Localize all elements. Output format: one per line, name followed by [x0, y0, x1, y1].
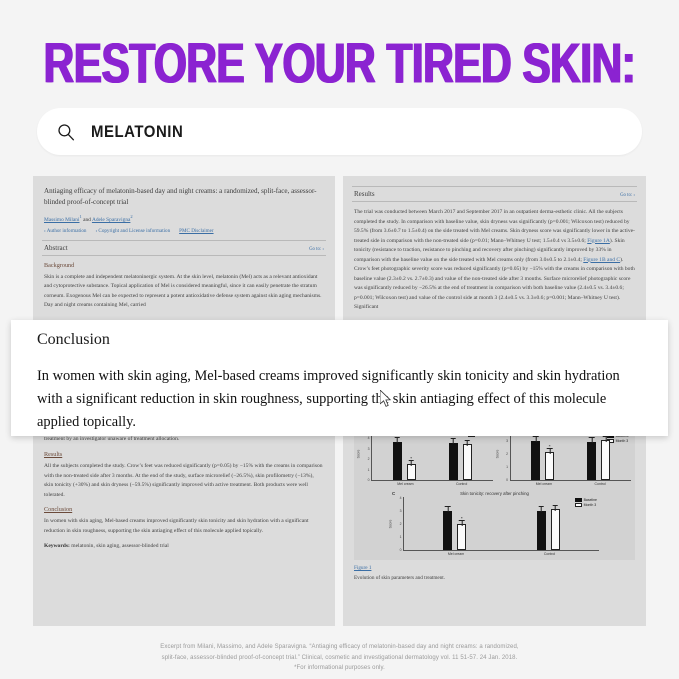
citation-line-3: *For informational purposes only.	[99, 663, 579, 673]
error-bar	[555, 505, 556, 511]
goto-link-abstract[interactable]: Go to: ›	[309, 247, 324, 252]
keywords-label: Keywords:	[44, 543, 70, 549]
error-bar	[535, 436, 536, 442]
ytick: 2	[400, 522, 402, 526]
conclusion-subheading: Conclusion	[44, 506, 324, 513]
bar-month3-control	[601, 440, 610, 480]
background-paragraph: Skin is a complete and independent melat…	[44, 273, 324, 311]
error-bar	[453, 438, 454, 444]
bar-month3-mel: *	[407, 464, 416, 480]
conclusion-overlay-card: Conclusion In women with skin aging, Mel…	[11, 320, 668, 436]
ytick: 0	[400, 548, 402, 552]
ytick: 3	[400, 509, 402, 513]
search-input[interactable]: MELATONIN	[91, 122, 183, 142]
xtick-control: Control	[544, 552, 555, 556]
ytick: 1	[368, 468, 370, 472]
error-bar	[447, 506, 448, 512]
citation-line-1: Excerpt from Milani, Massimo, and Adele …	[99, 642, 579, 652]
error-bar	[541, 506, 542, 512]
results-text-3: ). Crow’s feet photographic severity sco…	[354, 257, 635, 311]
abstract-section-bar: Abstract Go to: ›	[42, 240, 326, 256]
panel-c-ylabel: Score	[388, 519, 392, 528]
ytick: 2	[506, 452, 508, 456]
panel-a-ylabel: Score	[356, 449, 360, 458]
error-bar	[397, 437, 398, 443]
significance-star: *	[549, 444, 551, 449]
significance-star: *	[461, 516, 463, 521]
xtick-mel-cream: Mel cream	[397, 482, 413, 486]
article-meta-links: › Author information› Copyright and Lice…	[44, 228, 324, 234]
copyright-license-link[interactable]: › Copyright and License information	[95, 228, 170, 234]
panel-c-title: Skin tonicity: recovery after pinching	[390, 491, 599, 496]
author-information-link[interactable]: › Author information	[44, 228, 86, 234]
figure-1-link[interactable]: Figure 1	[354, 565, 637, 571]
panel-c-yaxis: Score 4 3 2 1 0	[390, 497, 404, 551]
author-link-1[interactable]: Massimo Milani	[44, 217, 80, 223]
bar-month3-control	[551, 509, 560, 550]
author-sup-2: 2	[130, 214, 132, 219]
citation-line-2: split-face, assessor-blinded proof-of-co…	[99, 653, 579, 663]
article-authors: Massimo Milani1 and Adele Sparavigna2	[44, 214, 324, 223]
panel-b-xlabels: Mel cream Control	[497, 481, 632, 486]
article-title: Antiaging efficacy of melatonin-based da…	[42, 184, 326, 208]
overlay-body-text: In women with skin aging, Mel-based crea…	[37, 365, 642, 433]
panel-c-letter: C	[392, 491, 395, 496]
results-paragraph: All the subjects completed the study. Cr…	[44, 462, 324, 500]
bar-baseline-mel	[531, 441, 540, 480]
results-section-bar: Results Go to: ›	[352, 186, 637, 202]
results-heading: Results	[354, 190, 375, 198]
pmc-disclaimer-link[interactable]: PMC Disclaimer	[179, 228, 213, 234]
ytick: 0	[506, 478, 508, 482]
error-bar	[467, 440, 468, 446]
chart-row-bottom: C Skin tonicity: recovery after pinching…	[358, 491, 631, 556]
results-body: The trial was conducted between March 20…	[354, 208, 635, 313]
ytick: 3	[368, 447, 370, 451]
ytick: 4	[368, 436, 370, 440]
chart-panel-c: C Skin tonicity: recovery after pinching…	[390, 491, 599, 556]
ytick: 0	[368, 478, 370, 482]
ytick: 2	[368, 457, 370, 461]
panel-c-plot: Score 4 3 2 1 0 *	[390, 497, 599, 551]
bar-group-mel-cream: *	[443, 497, 466, 550]
abstract-heading: Abstract	[44, 244, 68, 252]
citation-footer: Excerpt from Milani, Massimo, and Adele …	[0, 642, 679, 673]
xtick-control: Control	[594, 482, 605, 486]
figure-panel[interactable]: A Dryness severity score Baseline Month …	[354, 415, 635, 560]
search-icon	[57, 123, 75, 141]
bar-baseline-control	[537, 511, 546, 550]
ytick: 4	[400, 496, 402, 500]
xtick-control: Control	[456, 482, 467, 486]
panel-c-xlabels: Mel cream Control	[390, 551, 599, 556]
error-bar	[592, 437, 593, 443]
bar-month3-control	[463, 444, 472, 480]
figure-1bc-link[interactable]: Figure 1B and C	[583, 257, 620, 263]
error-bar	[606, 436, 607, 442]
search-bar[interactable]: MELATONIN	[37, 108, 642, 155]
significance-star: *	[410, 456, 412, 461]
panel-c-bars: *	[404, 497, 599, 551]
goto-link-results[interactable]: Go to: ›	[620, 193, 635, 198]
keywords-value: melatonin, skin aging, assessor-blinded …	[70, 543, 169, 549]
conclusion-paragraph: In women with skin aging, Mel-based crea…	[44, 517, 324, 536]
overlay-heading: Conclusion	[37, 331, 642, 349]
author-conjunction: and	[82, 217, 92, 223]
keywords-line: Keywords: melatonin, skin aging, assesso…	[44, 542, 324, 552]
hero-section: RESTORE YOUR TIRED SKIN:	[0, 0, 679, 86]
bar-baseline-mel	[393, 442, 402, 480]
author-link-2[interactable]: Adele Sparavigna	[92, 217, 130, 223]
bar-group-control	[537, 497, 560, 550]
bar-baseline-mel	[443, 511, 452, 550]
figure-1a-link[interactable]: Figure 1A	[587, 238, 610, 244]
xtick-mel-cream: Mel cream	[536, 482, 552, 486]
panel-b-ylabel: Score	[495, 449, 499, 458]
bar-baseline-control	[587, 442, 596, 480]
ytick: 1	[506, 465, 508, 469]
bar-month3-mel: *	[457, 524, 466, 550]
ytick: 3	[506, 439, 508, 443]
results-subheading: Results	[44, 451, 324, 458]
background-subheading: Background	[44, 262, 324, 269]
page-title: RESTORE YOUR TIRED SKIN:	[27, 35, 652, 91]
bar-month3-mel: *	[545, 452, 554, 480]
bar-baseline-control	[449, 443, 458, 480]
figure-1-caption: Evolution of skin parameters and treatme…	[354, 575, 637, 581]
panel-a-xlabels: Mel cream Control	[358, 481, 493, 486]
xtick-mel-cream: Mel cream	[448, 552, 464, 556]
ytick: 1	[400, 535, 402, 539]
figure-charts: A Dryness severity score Baseline Month …	[358, 421, 631, 556]
